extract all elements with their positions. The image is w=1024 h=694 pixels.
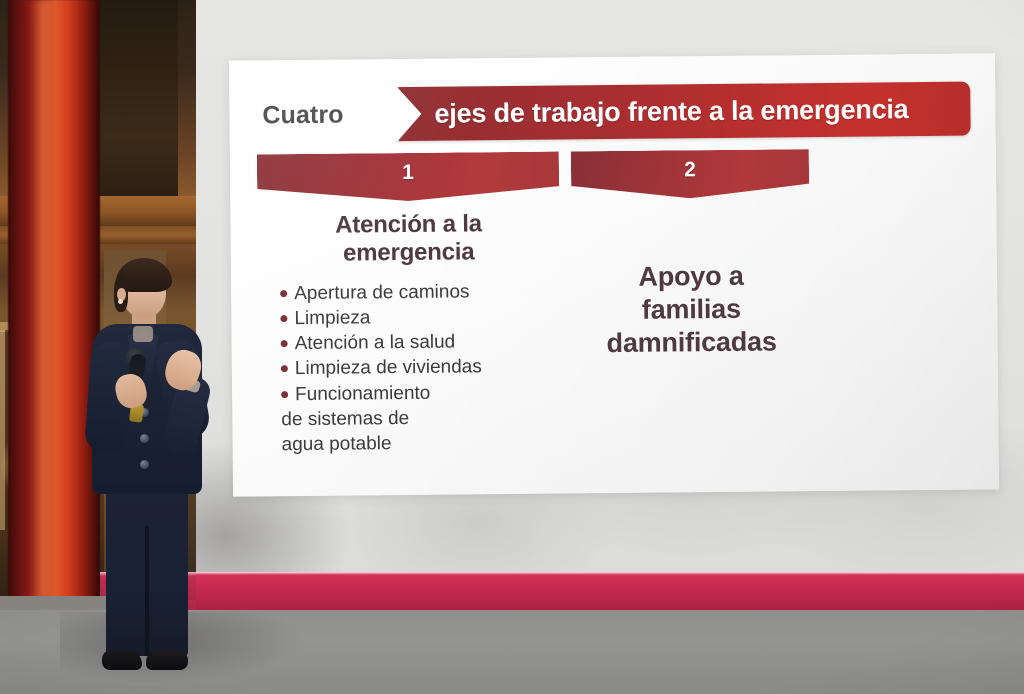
bullet-dot-icon [280,290,287,297]
slide-surface: Cuatro ejes de trabajo frente a la emerg… [229,53,999,496]
list-item: Limpieza de viviendas [281,354,545,382]
column-1-bullet-list: Apertura de caminos Limpieza Atención a … [274,278,546,457]
list-item-continuation: agua potable [281,430,545,458]
speaker-leg-gap [145,526,149,656]
list-item-continuation: de sistemas de [281,405,545,433]
crimson-backdrop-band [196,572,1024,614]
column-1-body: Atención a la emergencia Apertura de cam… [257,200,561,458]
column-2-body: Apoyo a familias damnificadas [571,197,811,360]
speaker-button [140,460,149,469]
header-eyebrow-label: Cuatro [262,100,343,130]
list-item: Apertura de caminos [280,278,544,306]
speaker-shoe-right [146,650,188,670]
slide-header: Cuatro ejes de trabajo frente a la emerg… [256,82,970,143]
column-1-number: 1 [402,161,414,185]
list-item-label: Funcionamiento [295,380,430,407]
list-item-label: Limpieza de viviendas [295,355,482,382]
speaker-figure [70,258,240,678]
speaker-earring [118,299,123,304]
column-2-title: Apoyo a familias damnificadas [588,259,795,360]
projected-slide: Cuatro ejes de trabajo frente a la emerg… [229,53,999,496]
column-2: 2 Apoyo a familias damnificadas [571,149,812,469]
column-2-number: 2 [684,158,696,182]
bullet-dot-icon [280,315,287,322]
column-2-title-line-1: Apoyo a [588,259,794,294]
column-1-title-line-2: emergencia [274,238,544,269]
column-1-title-line-1: Atención a la [273,210,543,241]
slide-content: Cuatro ejes de trabajo frente a la emerg… [256,82,974,473]
slide-columns: 1 Atención a la emergencia Apertura de c… [257,148,974,473]
column-2-title-line-2: familias [588,292,794,327]
list-item-label: Atención a la salud [295,330,456,357]
column-1: 1 Atención a la emergencia Apertura de c… [257,152,562,473]
list-item-label: Limpieza [294,305,370,331]
list-item: Funcionamiento [281,379,545,407]
column-1-number-banner: 1 [257,152,559,203]
screenshot-stage: Cuatro ejes de trabajo frente a la emerg… [0,0,1024,694]
bullet-dot-icon [281,391,288,398]
header-eyebrow: Cuatro [256,87,399,142]
speaker-shoe-left [102,650,142,670]
speaker-collar [133,326,153,342]
bullet-dot-icon [281,366,288,373]
header-banner: ejes de trabajo frente a la emergencia [396,82,970,142]
column-1-title: Atención a la emergencia [273,210,544,269]
column-2-number-banner: 2 [571,149,809,199]
curtain-highlight [30,0,56,600]
list-item: Limpieza [280,304,544,332]
bullet-dot-icon [281,340,288,347]
list-item-label: Apertura de caminos [294,279,470,306]
column-2-title-line-3: damnificadas [588,325,794,360]
speaker-button [140,434,149,443]
list-item: Atención a la salud [281,329,545,357]
header-title: ejes de trabajo frente a la emergencia [434,94,908,130]
